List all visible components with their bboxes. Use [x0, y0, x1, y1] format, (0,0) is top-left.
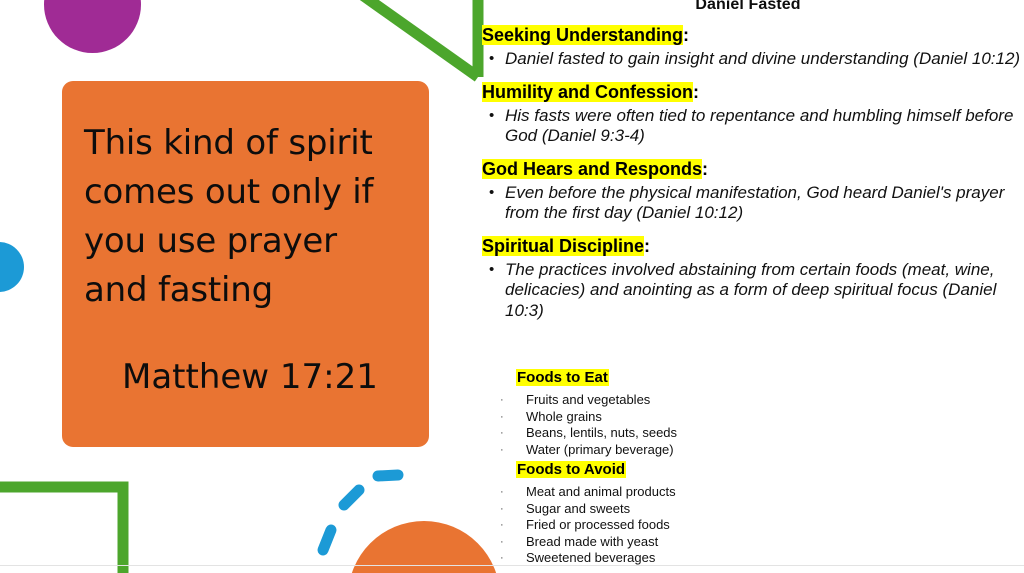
list-item: ·Whole grains [496, 409, 916, 426]
quote-reference: Matthew 17:21 [84, 357, 407, 397]
section-heading-text: Humility and Confession [482, 82, 693, 102]
section-body-text: Daniel fasted to gain insight and divine… [505, 49, 1024, 70]
section-heading-text: God Hears and Responds [482, 159, 702, 179]
slide-title: Daniel Fasted [478, 0, 1018, 14]
list-item: ·Fried or processed foods [496, 517, 916, 534]
dash-marker-icon: · [496, 425, 526, 442]
section-body: • Even before the physical manifestation… [482, 183, 1024, 224]
list-item-label: Beans, lentils, nuts, seeds [526, 425, 916, 442]
list-item-label: Meat and animal products [526, 484, 916, 501]
section-heading-colon: : [644, 236, 650, 256]
list-item: ·Fruits and vegetables [496, 392, 916, 409]
foods-to-avoid-list: ·Meat and animal products ·Sugar and swe… [496, 484, 916, 567]
bullet-icon: • [489, 260, 505, 322]
section-body: • Daniel fasted to gain insight and divi… [482, 49, 1024, 70]
section-body: • His fasts were often tied to repentanc… [482, 106, 1024, 147]
green-arrow-decoration [330, 0, 500, 85]
purple-circle-decoration [44, 0, 141, 53]
dash-marker-icon: · [496, 534, 526, 551]
slide-canvas: This kind of spirit comes out only if yo… [0, 0, 1024, 573]
list-item-label: Water (primary beverage) [526, 442, 916, 459]
dash-marker-icon: · [496, 501, 526, 518]
quote-text: This kind of spirit comes out only if yo… [84, 119, 407, 315]
list-item: ·Bread made with yeast [496, 534, 916, 551]
section-spiritual-discipline: Spiritual Discipline: • The practices in… [482, 233, 1024, 322]
bullet-icon: • [489, 49, 505, 70]
list-item: ·Beans, lentils, nuts, seeds [496, 425, 916, 442]
section-body-text: His fasts were often tied to repentance … [505, 106, 1024, 147]
dash-marker-icon: · [496, 409, 526, 426]
section-heading-colon: : [702, 159, 708, 179]
section-body: • The practices involved abstaining from… [482, 260, 1024, 322]
bullet-icon: • [489, 106, 505, 147]
sections-list: Seeking Understanding: • Daniel fasted t… [482, 22, 1024, 330]
foods-block: Foods to Eat ·Fruits and vegetables ·Who… [496, 368, 916, 569]
section-heading: Humility and Confession: [482, 79, 1024, 105]
content-column: Daniel Fasted Seeking Understanding: • D… [478, 0, 1024, 573]
section-god-hears-and-responds: God Hears and Responds: • Even before th… [482, 156, 1024, 224]
list-item-label: Fruits and vegetables [526, 392, 916, 409]
section-heading-colon: : [683, 25, 689, 45]
dash-marker-icon: · [496, 392, 526, 409]
foods-to-eat-heading: Foods to Eat [496, 368, 916, 388]
list-item-label: Whole grains [526, 409, 916, 426]
list-item-label: Fried or processed foods [526, 517, 916, 534]
list-item: ·Meat and animal products [496, 484, 916, 501]
list-item: ·Sugar and sweets [496, 501, 916, 518]
list-item-label: Bread made with yeast [526, 534, 916, 551]
blue-circle-decoration [0, 242, 24, 292]
foods-to-avoid-heading: Foods to Avoid [496, 460, 916, 480]
section-body-text: Even before the physical manifestation, … [505, 183, 1024, 224]
bottom-divider [0, 565, 1024, 566]
foods-to-eat-list: ·Fruits and vegetables ·Whole grains ·Be… [496, 392, 916, 458]
dash-marker-icon: · [496, 517, 526, 534]
section-heading-text: Seeking Understanding [482, 25, 683, 45]
blue-dashed-arc-decoration [280, 465, 410, 573]
section-humility-and-confession: Humility and Confession: • His fasts wer… [482, 79, 1024, 147]
scripture-quote-card: This kind of spirit comes out only if yo… [62, 81, 429, 447]
section-heading: God Hears and Responds: [482, 156, 1024, 182]
section-heading: Spiritual Discipline: [482, 233, 1024, 259]
section-heading: Seeking Understanding: [482, 22, 1024, 48]
list-item: ·Water (primary beverage) [496, 442, 916, 459]
dash-marker-icon: · [496, 442, 526, 459]
section-seeking-understanding: Seeking Understanding: • Daniel fasted t… [482, 22, 1024, 70]
section-body-text: The practices involved abstaining from c… [505, 260, 1024, 322]
list-item-label: Sugar and sweets [526, 501, 916, 518]
bullet-icon: • [489, 183, 505, 224]
section-heading-colon: : [693, 82, 699, 102]
green-corner-decoration [0, 480, 140, 573]
dash-marker-icon: · [496, 484, 526, 501]
section-heading-text: Spiritual Discipline [482, 236, 644, 256]
